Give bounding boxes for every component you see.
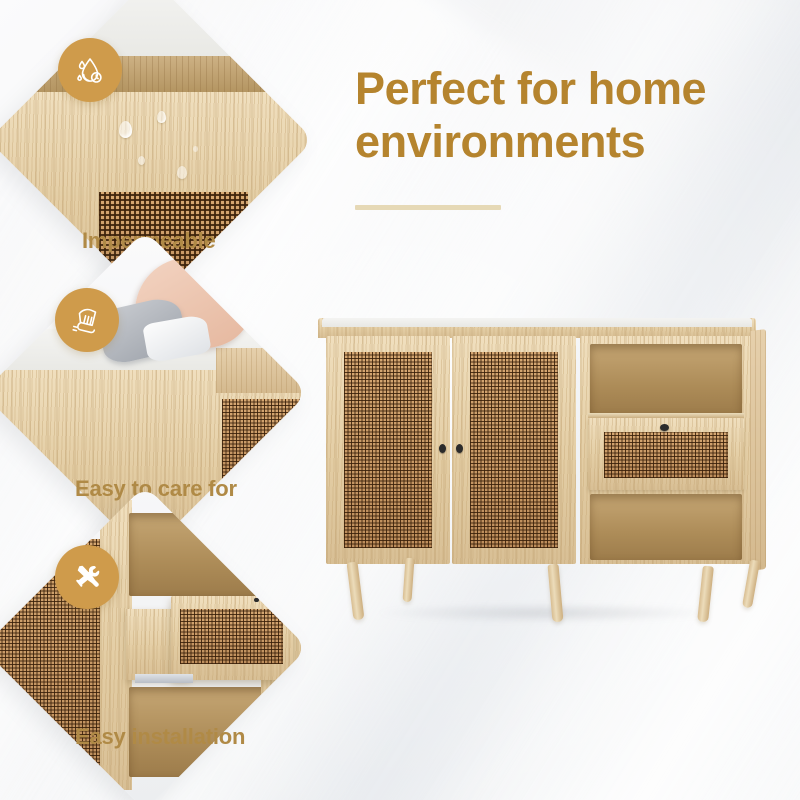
cabinet-leg-back-left bbox=[402, 558, 414, 603]
door-rattan-panel bbox=[344, 352, 432, 548]
cabinet-worktop bbox=[322, 318, 752, 327]
cabinet-leg-back-right bbox=[742, 559, 760, 608]
product-image-sideboard bbox=[318, 318, 770, 618]
drawer-rattan-panel bbox=[604, 432, 728, 478]
door-knob-right[interactable] bbox=[456, 444, 463, 453]
cabinet-side-panel-right bbox=[750, 329, 766, 571]
door-knob-left[interactable] bbox=[439, 444, 446, 453]
hand-wiping-cloth-icon bbox=[55, 288, 119, 352]
water-droplet-icon bbox=[58, 38, 122, 102]
cabinet-door-left[interactable] bbox=[326, 336, 450, 564]
cabinet-leg-front-center bbox=[547, 564, 563, 623]
open-shelf-lower bbox=[590, 494, 742, 560]
headline-line-2: environments bbox=[355, 116, 645, 167]
headline: Perfect for home environments bbox=[355, 62, 785, 168]
door-rattan-panel bbox=[470, 352, 558, 548]
feature-label-easy-installation: Easy installation bbox=[75, 724, 245, 750]
screwdriver-wrench-icon bbox=[55, 545, 119, 609]
headline-divider bbox=[355, 205, 501, 210]
cabinet-leg-front-left bbox=[347, 562, 365, 621]
cabinet-drawer[interactable] bbox=[588, 418, 744, 490]
cabinet-door-right[interactable] bbox=[452, 336, 576, 564]
drawer-knob[interactable] bbox=[660, 424, 669, 431]
headline-line-1: Perfect for home bbox=[355, 63, 706, 114]
cabinet-leg-front-right bbox=[697, 566, 714, 623]
open-shelf-upper bbox=[590, 344, 742, 414]
marketing-banner: Perfect for home environments bbox=[0, 0, 800, 800]
